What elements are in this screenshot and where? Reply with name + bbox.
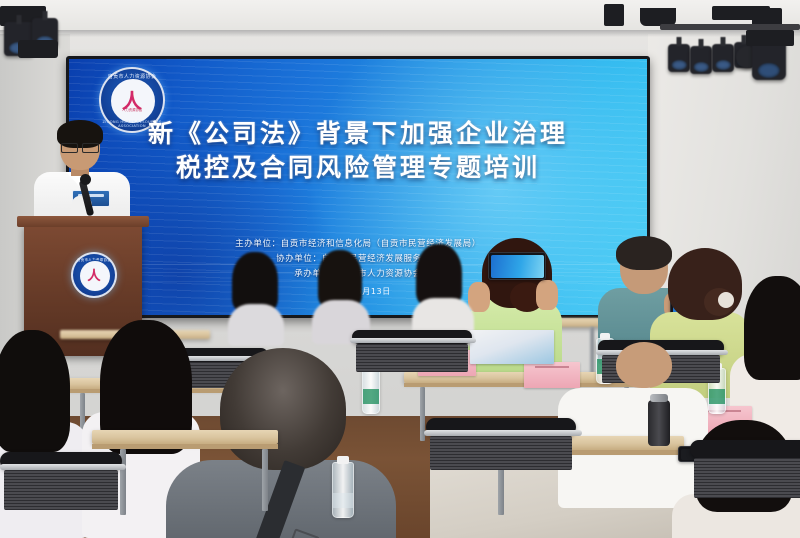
photo-scene: 自贡市人力资源协会 人 人 人力资源协会 ZIGONG HUMAN RESOUR…	[0, 0, 800, 538]
chair-front	[690, 440, 800, 458]
desk-front-left	[92, 430, 278, 444]
podium-emblem: 自贡市人力资源协会 人 人	[71, 252, 113, 294]
water-bottle	[332, 462, 354, 518]
ceiling-shadow	[0, 30, 800, 37]
thermos-flask	[648, 400, 670, 446]
smartphone-icon	[488, 252, 546, 280]
glasses-icon	[61, 143, 99, 151]
organizer-line-1: 主办单位：自贡市经济和信息化局（自贡市民营经济发展局）	[69, 237, 647, 252]
podium-logo-mark: 人	[87, 265, 100, 284]
brochure	[470, 330, 554, 364]
screen-title: 新《公司法》背景下加强企业治理 税控及合同风险管理专题培训	[69, 117, 647, 185]
title-line-1: 新《公司法》背景下加强企业治理	[69, 117, 647, 151]
podium-top	[17, 216, 149, 227]
name-card	[524, 362, 580, 388]
water-bottle	[362, 368, 380, 414]
logo-sub-text: 人力资源协会	[101, 107, 163, 112]
title-line-2: 税控及合同风险管理专题培训	[69, 151, 647, 185]
